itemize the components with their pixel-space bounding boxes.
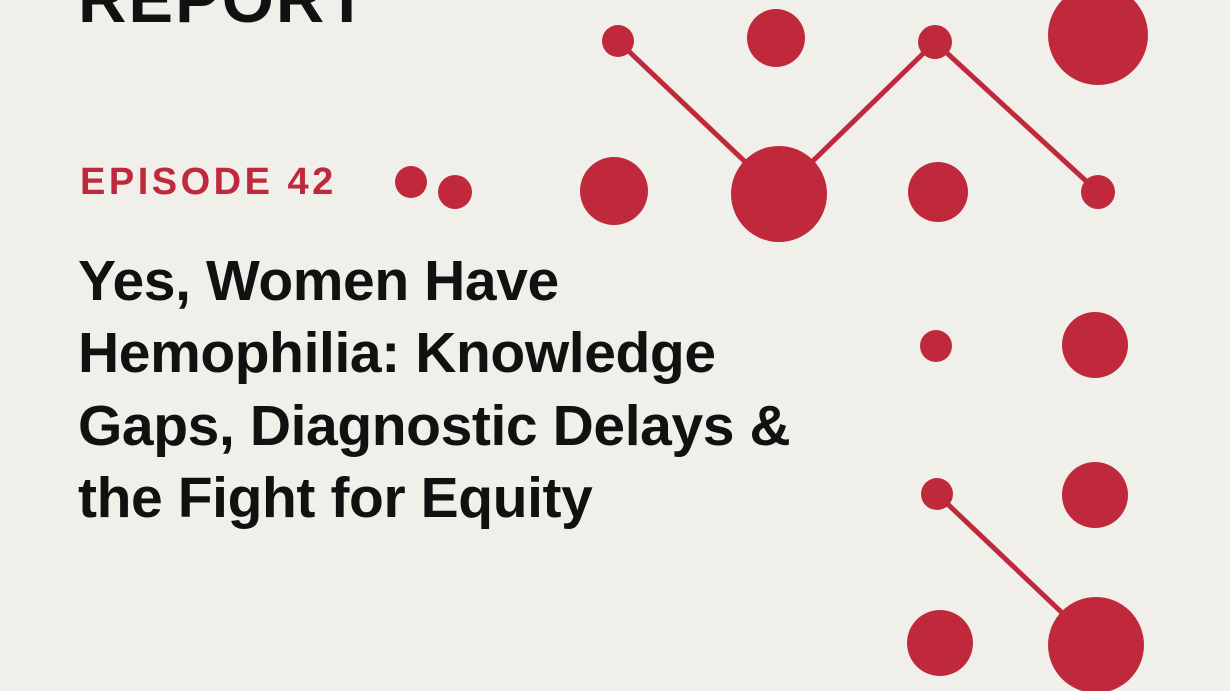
node — [1062, 312, 1128, 378]
node — [1062, 462, 1128, 528]
bullet-dot-icon — [395, 166, 427, 198]
node — [1048, 597, 1144, 691]
poster-text-layer: REPORT EPISODE 42 Yes, Women Have Hemoph… — [78, 0, 898, 691]
episode-number-label: EPISODE 42 — [80, 163, 337, 201]
node — [921, 478, 953, 510]
episode-title: Yes, Women Have Hemophilia: Knowledge Ga… — [78, 245, 878, 535]
node — [907, 610, 973, 676]
episode-row: EPISODE 42 — [80, 163, 427, 201]
edge — [937, 494, 1096, 645]
node — [920, 330, 952, 362]
node — [1048, 0, 1148, 85]
podcast-episode-cover: REPORT EPISODE 42 Yes, Women Have Hemoph… — [0, 0, 1230, 691]
edge — [935, 42, 1098, 192]
node — [1081, 175, 1115, 209]
report-wordmark: REPORT — [78, 0, 369, 33]
node — [908, 162, 968, 222]
node — [918, 25, 952, 59]
